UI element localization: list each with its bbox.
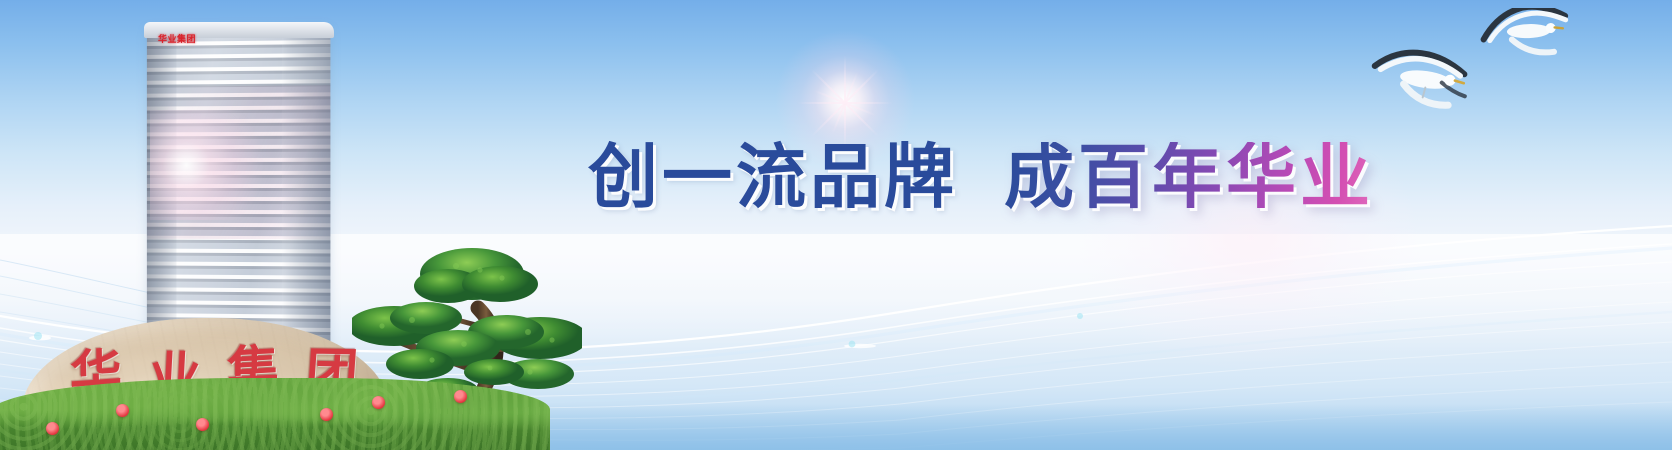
hedge-row: [0, 378, 550, 450]
office-tower: 华业集团: [132, 18, 348, 348]
slogan-part-2: 成百年华业: [1004, 142, 1374, 212]
flower-icon: [454, 390, 467, 403]
flower-icon: [116, 404, 129, 417]
hero-banner: 华业集团: [0, 0, 1672, 450]
flower-icon: [196, 418, 209, 431]
tower-body: [147, 27, 331, 349]
flower-icon: [320, 408, 333, 421]
flower-icon: [46, 422, 59, 435]
slogan: 创一流品牌 成百年华业: [588, 134, 1374, 220]
flower-icon: [372, 396, 385, 409]
tower-reflection: [147, 85, 331, 240]
slogan-part-1: 创一流品牌: [588, 142, 958, 212]
hedge-texture: [0, 378, 550, 450]
rooftop-sign-label: 华业集团: [154, 34, 200, 47]
